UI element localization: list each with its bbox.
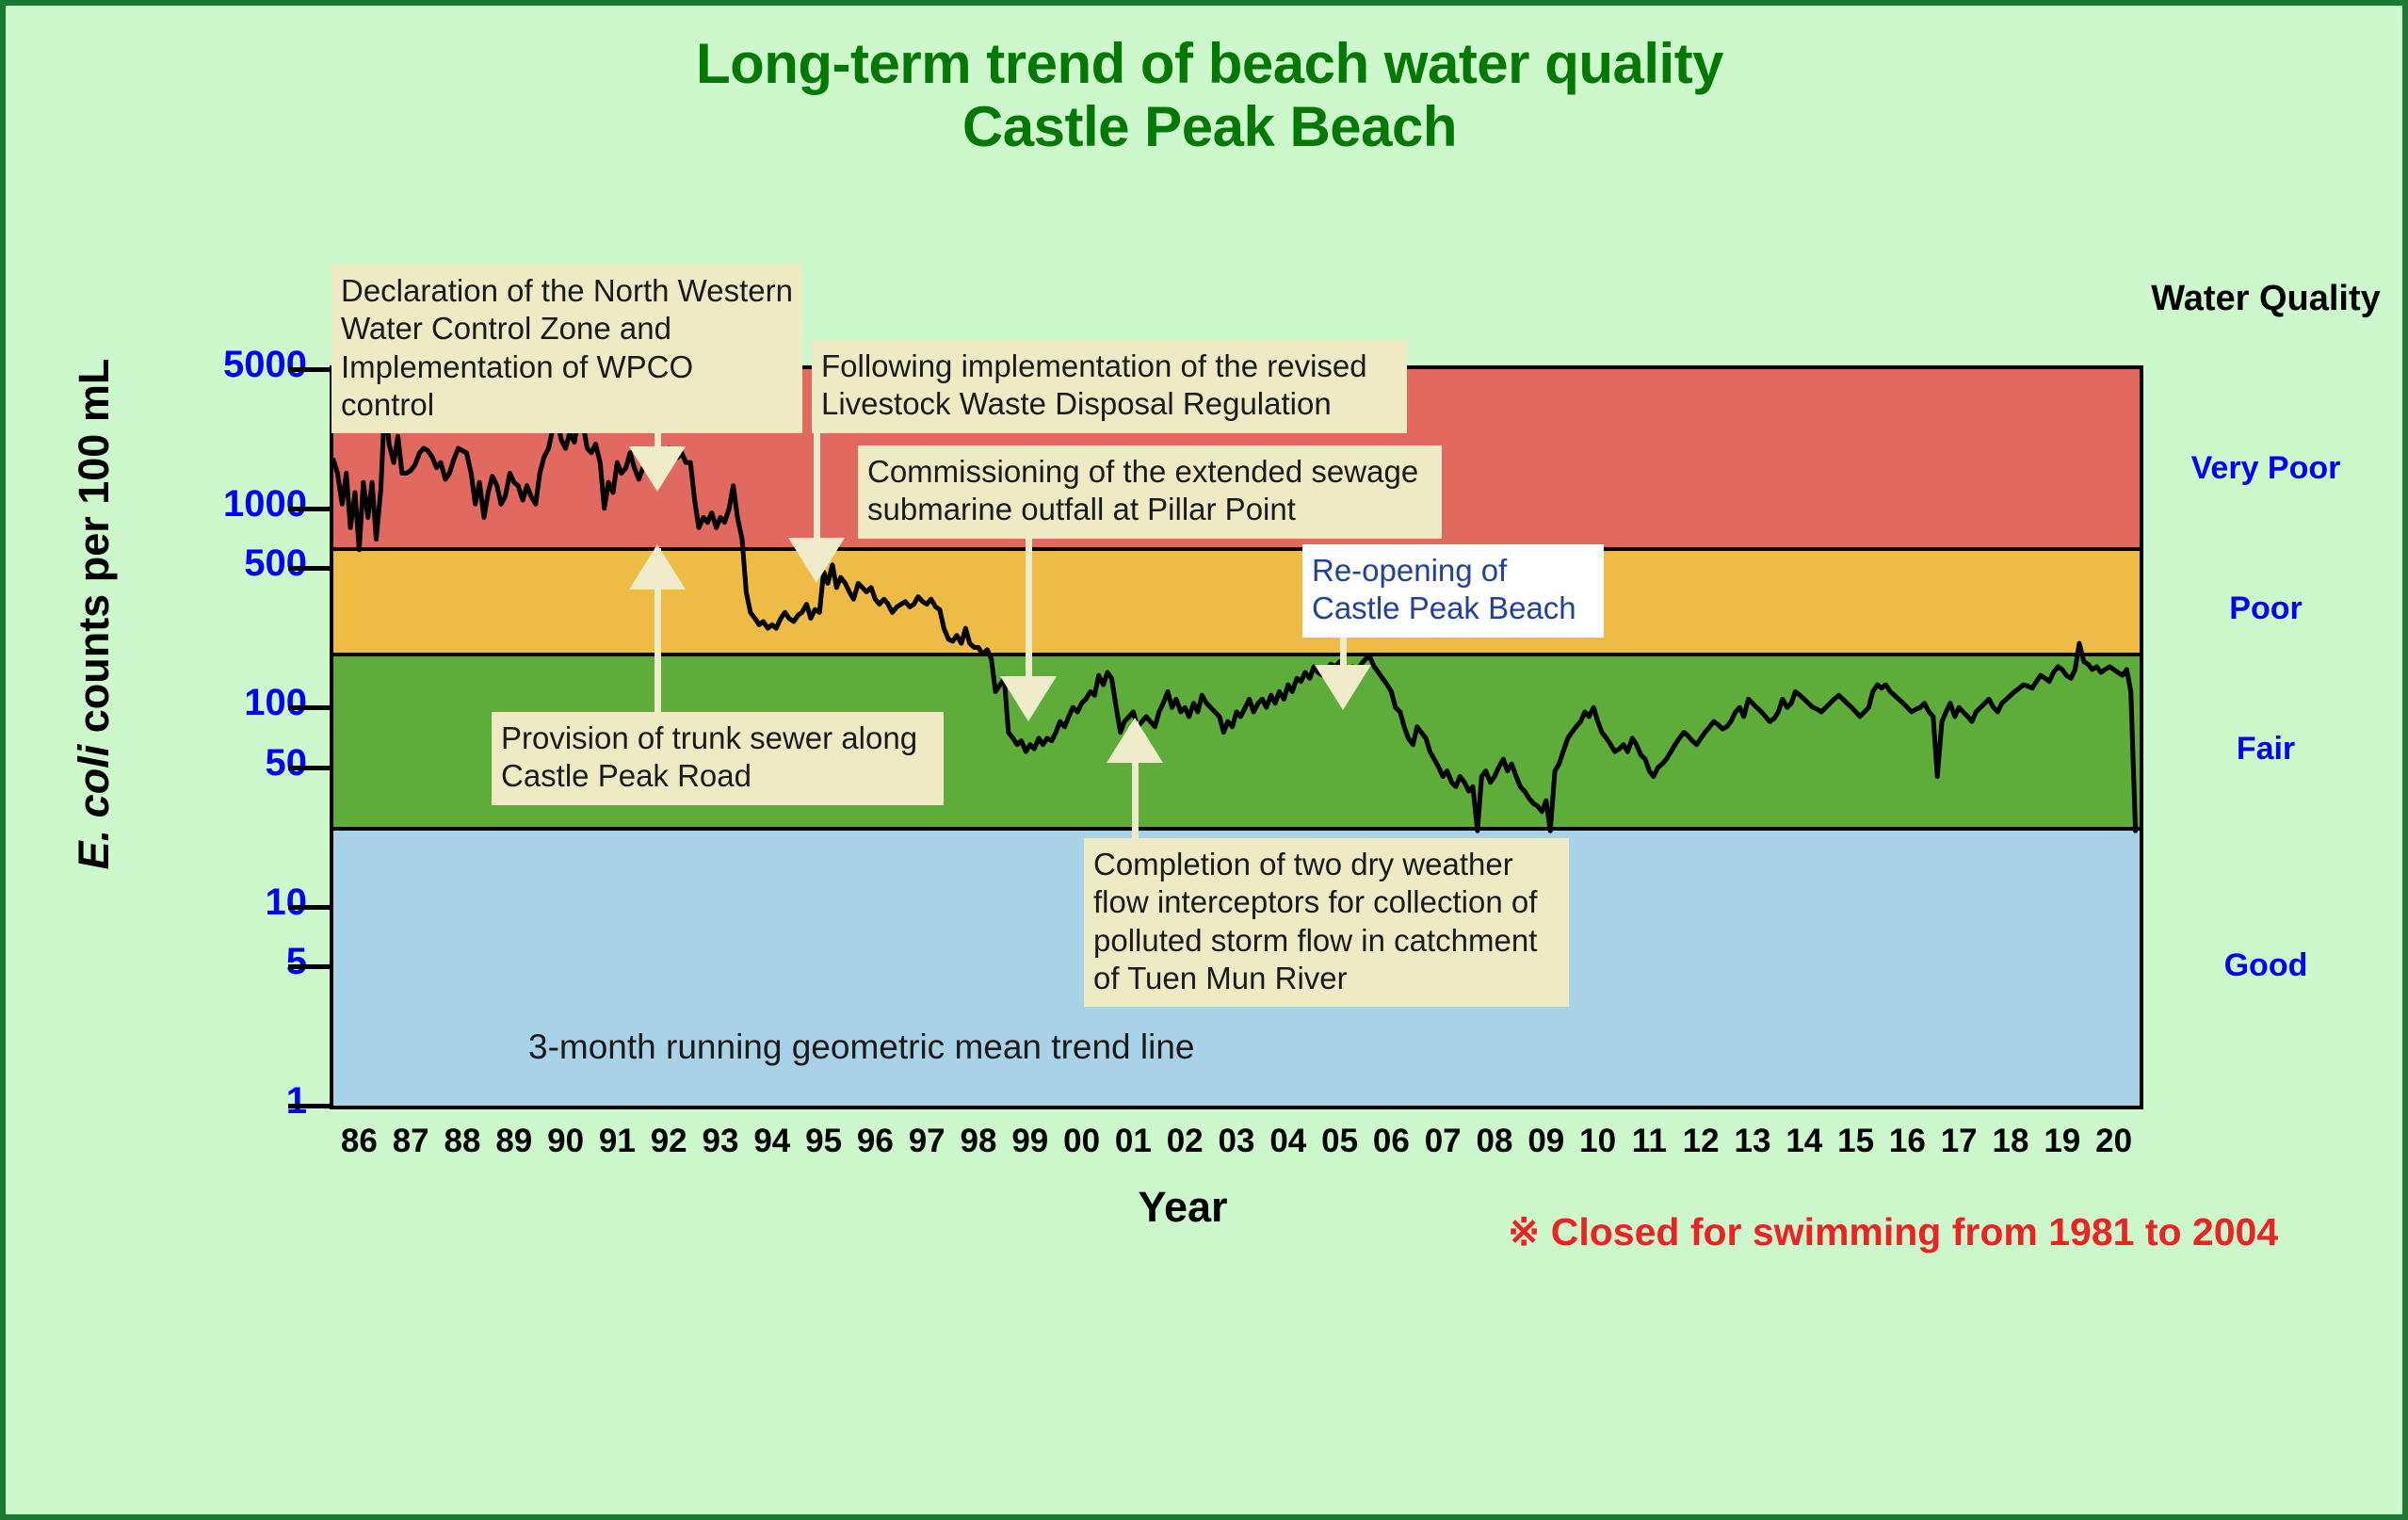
x-tick-label-17: 17 xyxy=(1931,1123,1987,1160)
x-tick-label-19: 19 xyxy=(2034,1123,2091,1160)
y-tick-mark-1 xyxy=(288,1104,330,1108)
y-tick-label-1: 1 xyxy=(81,1080,307,1123)
x-tick-label-97: 97 xyxy=(898,1123,955,1160)
arrowhead-wpco xyxy=(629,446,686,492)
x-tick-label-93: 93 xyxy=(692,1123,749,1160)
annotation-wpco: Declaration of the North Western Water C… xyxy=(331,265,802,433)
x-axis-label: Year xyxy=(1042,1183,1324,1232)
y-tick-mark-5 xyxy=(288,964,330,969)
annotation-livestock: Following implementation of the revised … xyxy=(812,340,1407,433)
arrowhead-trunk-sewer xyxy=(629,544,686,590)
x-tick-label-89: 89 xyxy=(486,1123,542,1160)
title-line-1: Long-term trend of beach water quality xyxy=(6,32,2408,95)
x-tick-label-07: 07 xyxy=(1414,1123,1471,1160)
x-tick-label-10: 10 xyxy=(1570,1123,1626,1160)
x-tick-label-94: 94 xyxy=(744,1123,800,1160)
x-tick-label-87: 87 xyxy=(382,1123,439,1160)
x-tick-label-06: 06 xyxy=(1363,1123,1419,1160)
x-tick-label-14: 14 xyxy=(1776,1123,1833,1160)
y-tick-label-10: 10 xyxy=(81,881,307,924)
x-tick-label-95: 95 xyxy=(796,1123,852,1160)
x-tick-label-18: 18 xyxy=(1982,1123,2039,1160)
trend-line-legend-label: 3-month running geometric mean trend lin… xyxy=(528,1027,1195,1067)
x-tick-label-15: 15 xyxy=(1828,1123,1884,1160)
y-tick-mark-100 xyxy=(288,705,330,710)
title-line-2: Castle Peak Beach xyxy=(6,95,2408,158)
water-quality-legend-title: Water Quality xyxy=(2125,279,2407,319)
y-tick-label-100: 100 xyxy=(81,682,307,724)
x-tick-label-92: 92 xyxy=(640,1123,697,1160)
annotation-pillar-point: Commissioning of the extended sewage sub… xyxy=(858,445,1442,539)
x-tick-label-90: 90 xyxy=(538,1123,594,1160)
closure-footnote: ※ Closed for swimming from 1981 to 2004 xyxy=(1508,1209,2278,1254)
leader-pillar-point xyxy=(1026,531,1032,682)
x-tick-label-04: 04 xyxy=(1260,1123,1317,1160)
y-tick-label-500: 500 xyxy=(81,542,307,585)
y-tick-label-50: 50 xyxy=(81,742,307,784)
x-tick-label-11: 11 xyxy=(1621,1123,1677,1160)
annotation-interceptors: Completion of two dry weather flow inter… xyxy=(1084,838,1569,1007)
x-tick-label-05: 05 xyxy=(1312,1123,1368,1160)
x-tick-label-03: 03 xyxy=(1208,1123,1265,1160)
y-tick-label-5000: 5000 xyxy=(81,344,307,386)
x-tick-label-00: 00 xyxy=(1054,1123,1110,1160)
y-tick-mark-500 xyxy=(288,566,330,571)
annotation-trunk-sewer: Provision of trunk sewer along Castle Pe… xyxy=(492,712,944,805)
x-tick-label-16: 16 xyxy=(1879,1123,1935,1160)
x-tick-label-86: 86 xyxy=(331,1123,387,1160)
x-tick-label-13: 13 xyxy=(1724,1123,1781,1160)
water-quality-good: Good xyxy=(2143,947,2388,984)
x-tick-label-08: 08 xyxy=(1466,1123,1523,1160)
x-tick-label-12: 12 xyxy=(1673,1123,1729,1160)
arrowhead-pillar-point xyxy=(1000,676,1057,721)
x-tick-label-99: 99 xyxy=(1002,1123,1059,1160)
x-tick-label-01: 01 xyxy=(1105,1123,1161,1160)
x-tick-label-96: 96 xyxy=(847,1123,903,1160)
x-tick-label-91: 91 xyxy=(589,1123,645,1160)
water-quality-very-poor: Very Poor xyxy=(2143,450,2388,487)
y-tick-mark-50 xyxy=(288,766,330,770)
x-tick-label-09: 09 xyxy=(1518,1123,1575,1160)
arrowhead-livestock xyxy=(788,538,845,583)
x-tick-label-02: 02 xyxy=(1156,1123,1213,1160)
x-tick-label-20: 20 xyxy=(2086,1123,2142,1160)
y-tick-label-1000: 1000 xyxy=(81,483,307,526)
water-quality-poor: Poor xyxy=(2143,590,2388,627)
page-title: Long-term trend of beach water quality C… xyxy=(6,32,2408,158)
x-tick-label-88: 88 xyxy=(434,1123,491,1160)
chart-frame: Long-term trend of beach water quality C… xyxy=(0,0,2408,1520)
y-tick-mark-5000 xyxy=(288,367,330,372)
arrowhead-interceptors xyxy=(1107,718,1163,763)
x-tick-label-98: 98 xyxy=(950,1123,1007,1160)
y-tick-mark-1000 xyxy=(288,507,330,511)
arrowhead-reopening xyxy=(1315,665,1371,710)
y-tick-mark-10 xyxy=(288,905,330,910)
water-quality-fair: Fair xyxy=(2143,731,2388,768)
y-tick-label-5: 5 xyxy=(81,941,307,983)
annotation-reopening: Re-opening of Castle Peak Beach xyxy=(1302,544,1604,638)
